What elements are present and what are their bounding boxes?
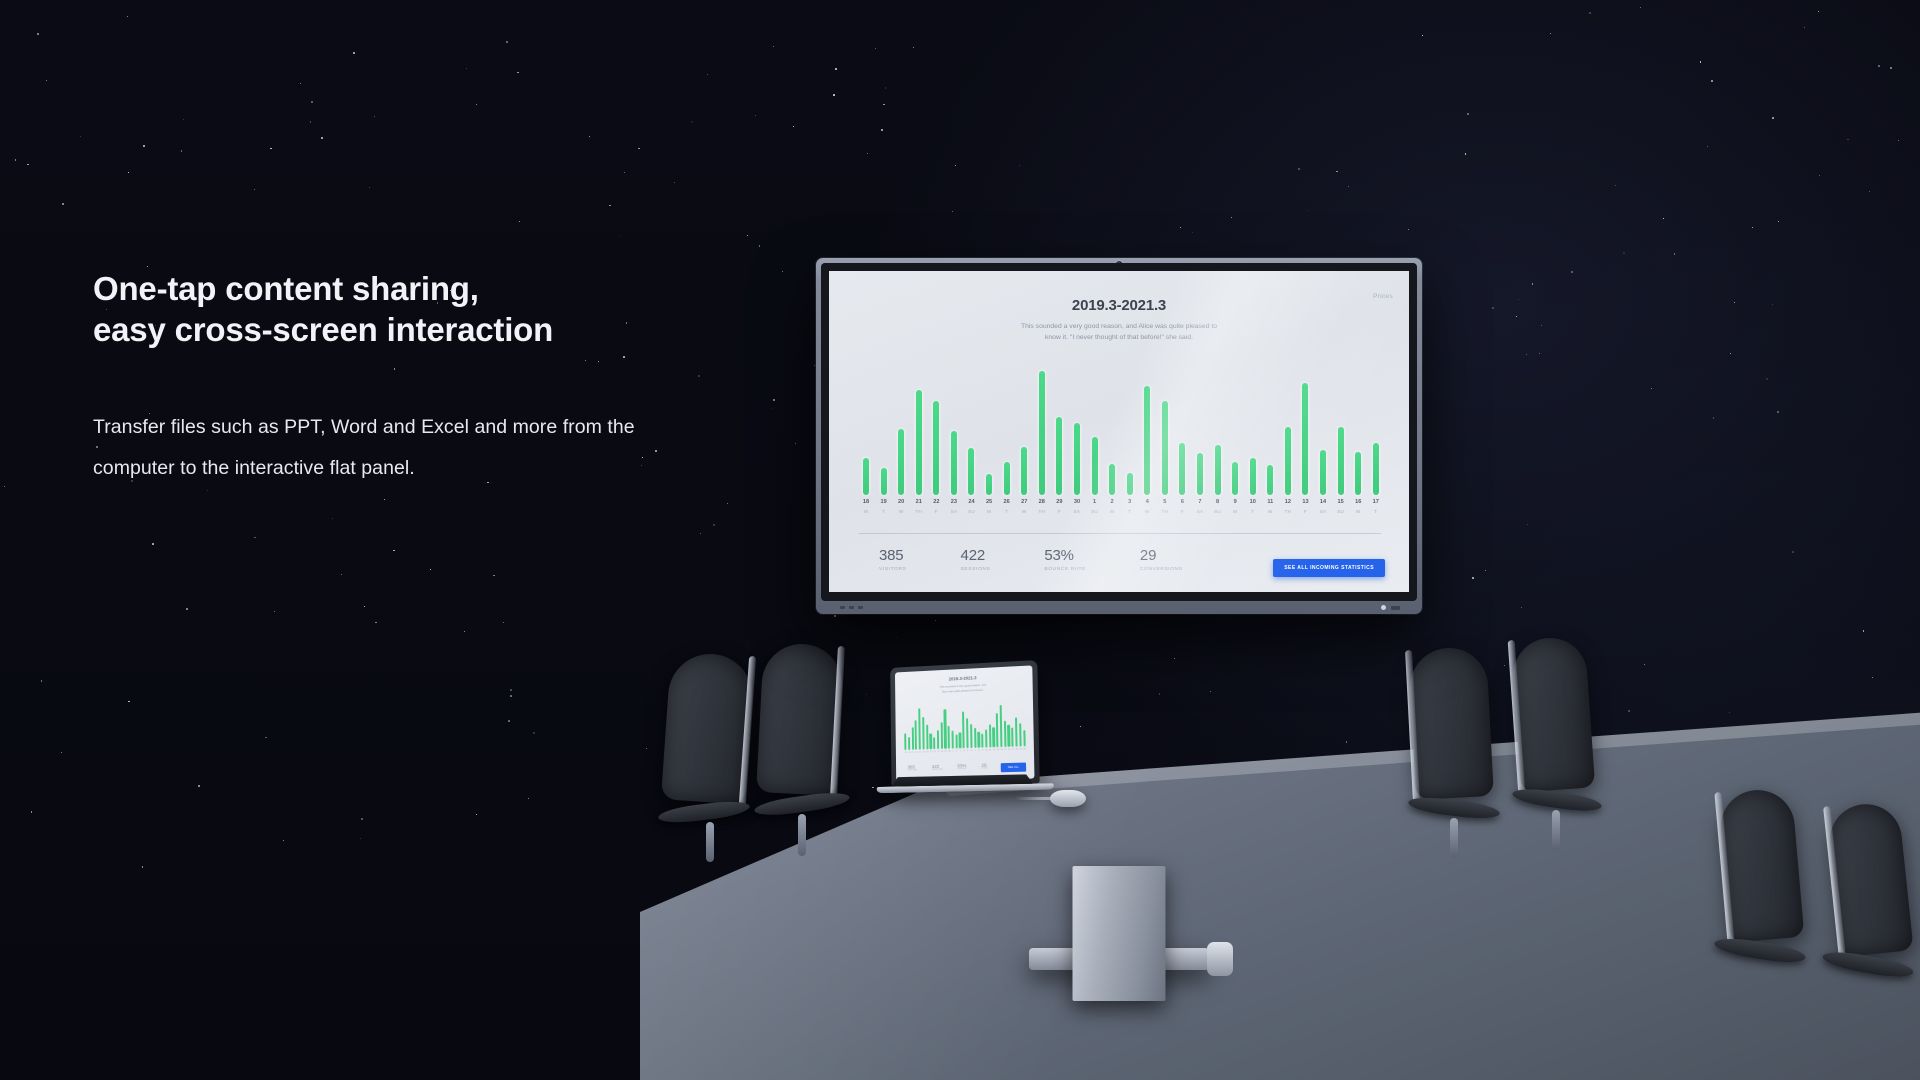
axis-tick: 22F [933,499,939,525]
axis-tick: 11W [1267,499,1273,525]
axis-day-label: 27 [1021,499,1027,505]
axis-tick: 19T [881,499,887,525]
laptop-axis-tick: 10 [985,750,987,758]
bar [1338,427,1344,495]
laptop-kpi-item: 53%BOUNCE [957,763,966,770]
laptop-bar [1011,728,1014,747]
laptop-axis-tick: 26 [933,751,935,759]
bar [1215,445,1221,495]
laptop-bar-chart [904,702,1026,750]
bar [1267,465,1273,495]
dashboard-title: 2019.3-2021.3 [845,297,1393,314]
axis-weekday-label: T [882,509,885,514]
axis-weekday-label: M [864,509,868,514]
axis-day-label: 10 [1250,499,1256,505]
laptop-bar [981,734,983,748]
axis-tick: 14SA [1320,499,1326,525]
laptop-axis-tick: 21 [915,752,917,760]
mouse[interactable] [1050,790,1086,807]
axis-weekday-label: TH [1162,509,1169,514]
mouse-cable [1015,797,1055,800]
laptop-bar [966,718,969,748]
axis-tick: 4W [1144,499,1150,525]
axis-day-label: 23 [951,499,957,505]
axis-day-label: 8 [1216,499,1219,505]
axis-day-label: 5 [1163,499,1166,505]
bar-column[interactable] [1197,367,1203,495]
panel-indicators [1381,605,1400,610]
axis-tick: 20W [898,499,904,525]
bar-column[interactable] [1127,367,1133,495]
kpi-value: 422 [961,547,991,564]
laptop-bar [1015,717,1018,747]
axis-weekday-label: T [1251,509,1254,514]
axis-tick: 26T [1004,499,1010,525]
laptop-axis-tick: 12 [993,749,995,757]
kpi-divider [859,533,1381,534]
laptop-bar [926,725,928,750]
laptop-axis-tick: 20 [1023,748,1025,756]
axis-tick: 10T [1250,499,1256,525]
bar [1109,464,1115,495]
marketing-copy-block: One-tap content sharing, easy cross-scre… [93,268,833,489]
laptop-bar [1023,730,1026,746]
display-screen[interactable]: Prices 2019.3-2021.3 This sounded a very… [829,271,1409,592]
axis-weekday-label: T [1374,509,1377,514]
kpi-item: 29CONVERSIONS [1140,547,1183,572]
bar-column[interactable] [1267,367,1273,495]
laptop-axis-tick: 15 [1004,749,1006,757]
axis-day-label: 19 [880,499,886,505]
laptop-keyboard[interactable] [891,774,1033,786]
bar [1056,417,1062,495]
axis-weekday-label: SA [1197,509,1204,514]
laptop-see-all-button[interactable]: SEE ALL [1001,763,1026,773]
laptop-axis-tick: 4 [963,750,965,758]
laptop-bar [1007,725,1010,747]
bar-chart[interactable] [863,367,1379,495]
laptop: 2019.3-2021.3 This sounded a very good r… [887,661,1054,796]
dashboard: Prices 2019.3-2021.3 This sounded a very… [829,271,1409,592]
axis-tick: 3T [1127,499,1133,525]
axis-tick: 18M [863,499,869,525]
laptop-axis-tick: 22 [919,752,921,760]
bar-column[interactable] [1074,367,1080,495]
axis-day-label: 20 [898,499,904,505]
axis-weekday-label: TH [1039,509,1046,514]
laptop-kpi-label: VISITORS [908,769,918,771]
axis-tick: 2M [1109,499,1115,525]
laptop-kpi-item: 29CONV [981,763,987,770]
laptop-axis-tick: 11 [989,749,991,757]
bar-column[interactable] [863,367,869,495]
laptop-kpi-label: BOUNCE [957,768,966,770]
laptop-axis-tick: 27 [937,751,939,759]
bar-column[interactable] [881,367,887,495]
axis-weekday-label: SA [951,509,958,514]
axis-tick: 28TH [1039,499,1045,525]
prices-label[interactable]: Prices [1373,293,1393,300]
laptop-chart-axis: 1819202122232425262728293012345678910111… [904,748,1025,760]
laptop-axis-tick: 23 [923,751,925,759]
axis-weekday-label: F [1181,509,1184,514]
axis-weekday-label: SU [1214,509,1221,514]
axis-tick: 7SA [1197,499,1203,525]
axis-day-label: 3 [1128,499,1131,505]
laptop-bar [992,727,995,747]
laptop-axis-tick: 9 [982,750,984,758]
axis-day-label: 28 [1039,499,1045,505]
axis-weekday-label: M [1356,509,1360,514]
laptop-bar [922,717,925,749]
kpi-value: 53% [1044,547,1086,564]
axis-day-label: 15 [1338,499,1344,505]
bar-column[interactable] [951,367,957,495]
laptop-bar [985,730,987,748]
axis-weekday-label: SU [968,509,975,514]
axis-weekday-label: T [1128,509,1131,514]
bar-column[interactable] [1179,367,1185,495]
bar [898,429,904,495]
bar-column[interactable] [1215,367,1221,495]
bar-column[interactable] [1250,367,1256,495]
bar-column[interactable] [1355,367,1361,495]
laptop-axis-tick: 19 [1019,748,1021,756]
axis-day-label: 29 [1056,499,1062,505]
laptop-kpi-row: 385VISITORS422SESSIONS53%BOUNCE29CONV [907,763,987,772]
bar-column[interactable] [968,367,974,495]
axis-weekday-label: W [1145,509,1150,514]
bar-column[interactable] [1285,367,1291,495]
laptop-bar [962,712,965,749]
laptop-bar [930,734,932,750]
laptop-axis-tick: 1 [952,751,954,759]
axis-day-label: 12 [1285,499,1291,505]
axis-tick: 21TH [916,499,922,525]
bar [1127,473,1133,495]
interactive-flat-panel: Prices 2019.3-2021.3 This sounded a very… [816,258,1422,614]
laptop-bar [952,731,954,749]
laptop-kpi-item: 385VISITORS [907,764,917,771]
laptop-axis-tick: 20 [912,752,914,760]
laptop-axis-tick: 28 [941,751,943,759]
bar [1355,452,1361,495]
bar-column[interactable] [1162,367,1168,495]
bar [968,448,974,495]
bar [1320,450,1326,495]
laptop-bar [1019,723,1022,746]
laptop-axis-tick: 2 [955,750,957,758]
kpi-item: 422SESSIONS [961,547,991,572]
laptop-axis-tick: 7 [974,750,976,758]
bar [1179,443,1185,495]
axis-day-label: 18 [863,499,869,505]
axis-tick: 6F [1179,499,1185,525]
laptop-kpi-item: 422SESSIONS [932,764,943,771]
bar [1302,383,1308,495]
axis-tick: 5TH [1162,499,1168,525]
axis-day-label: 13 [1302,499,1308,505]
bar [1232,462,1238,495]
bar [881,468,887,495]
axis-weekday-label: M [987,509,991,514]
axis-day-label: 11 [1267,499,1273,505]
axis-tick: 24SU [968,499,974,525]
laptop-bar [933,738,935,749]
bar [1004,462,1010,495]
bar [1373,443,1379,495]
panel-control-buttons[interactable] [840,606,863,609]
laptop-bar [940,722,943,749]
stand-knob [1207,942,1233,976]
bar [1074,423,1080,495]
axis-day-label: 16 [1355,499,1361,505]
axis-tick: 1SU [1092,499,1098,525]
bar-column[interactable] [986,367,992,495]
bar-column[interactable] [1109,367,1115,495]
axis-tick: 8SU [1215,499,1221,525]
laptop-lid: 2019.3-2021.3 This sounded a very good r… [890,660,1040,787]
page-title: One-tap content sharing, easy cross-scre… [93,268,833,350]
laptop-bar [915,720,917,750]
laptop-bar [904,734,906,751]
bar-column[interactable] [898,367,904,495]
panel-button-2[interactable] [849,606,854,609]
laptop-bar [989,724,992,747]
axis-tick: 30SA [1074,499,1080,525]
kpi-item: 53%BOUNCE RATE [1044,547,1086,572]
laptop-axis-tick: 30 [948,751,950,759]
laptop-kpi-label: CONV [981,768,987,770]
bar [1250,458,1256,495]
axis-day-label: 1 [1093,499,1096,505]
laptop-axis-tick: 18 [904,752,906,760]
axis-day-label: 26 [1004,499,1010,505]
kpi-label: SESSIONS [961,567,991,572]
bar-column[interactable] [916,367,922,495]
laptop-bar [1004,721,1007,747]
laptop-bar [911,727,913,750]
axis-tick: 15SU [1338,499,1344,525]
axis-day-label: 30 [1074,499,1080,505]
axis-day-label: 25 [986,499,992,505]
axis-day-label: 9 [1234,499,1237,505]
bar-column[interactable] [1302,367,1308,495]
axis-weekday-label: SU [1091,509,1098,514]
bar [1285,427,1291,495]
laptop-axis-tick: 3 [959,750,961,758]
kpi-label: VISITORS [879,567,907,572]
axis-day-label: 2 [1111,499,1114,505]
laptop-axis-tick: 6 [970,750,972,758]
bar-column[interactable] [1232,367,1238,495]
axis-day-label: 21 [916,499,922,505]
axis-tick: 25M [986,499,992,525]
laptop-bar [959,733,961,749]
axis-tick: 12TH [1285,499,1291,525]
bar-column[interactable] [1320,367,1326,495]
axis-tick: 13F [1302,499,1308,525]
panel-button-3[interactable] [858,606,863,609]
laptop-axis-tick: 25 [930,751,932,759]
sensor-icon [1391,606,1400,610]
laptop-bar [1000,705,1003,747]
laptop-bar [955,735,957,749]
laptop-bar [908,738,910,750]
axis-weekday-label: W [1022,509,1027,514]
bar-column[interactable] [1039,367,1045,495]
bar [1092,437,1098,495]
bar-column[interactable] [1056,367,1062,495]
axis-weekday-label: W [899,509,904,514]
axis-weekday-label: TH [915,509,922,514]
bar-column[interactable] [933,367,939,495]
display-bezel: Prices 2019.3-2021.3 This sounded a very… [816,258,1422,614]
laptop-bar [944,709,947,748]
bar [986,474,992,495]
laptop-axis-tick: 14 [1000,749,1002,757]
axis-weekday-label: F [1058,509,1061,514]
bar [1039,371,1045,495]
bar-column[interactable] [1092,367,1098,495]
axis-day-label: 7 [1198,499,1201,505]
bar [863,458,869,495]
bar-column[interactable] [1144,367,1150,495]
stand-plate [1073,866,1166,1001]
bar [1144,386,1150,495]
dashboard-subtitle: This sounded a very good reason, and Ali… [845,321,1393,343]
axis-day-label: 14 [1320,499,1326,505]
page-subtitle: Transfer files such as PPT, Word and Exc… [93,407,833,489]
laptop-bar [918,708,921,749]
laptop-axis-tick: 16 [1008,749,1010,757]
laptop-axis-tick: 5 [967,750,969,758]
laptop-axis-tick: 13 [997,749,999,757]
axis-weekday-label: SU [1337,509,1344,514]
axis-tick: 29F [1056,499,1062,525]
axis-weekday-label: TH [1285,509,1292,514]
laptop-bar [948,726,950,749]
axis-tick: 27W [1021,499,1027,525]
axis-tick: 23SA [951,499,957,525]
laptop-axis-tick: 29 [944,751,946,759]
bar [916,390,922,495]
axis-tick: 16M [1355,499,1361,525]
kpi-label: CONVERSIONS [1140,567,1183,572]
kpi-label: BOUNCE RATE [1044,567,1086,572]
axis-tick: 9M [1232,499,1238,525]
chart-x-axis: 18M19T20W21TH22F23SA24SU25M26T27W28TH29F… [863,499,1379,525]
kpi-item: 385VISITORS [879,547,907,572]
kpi-value: 29 [1140,547,1183,564]
see-all-statistics-button[interactable]: SEE ALL INCOMING STATISTICS [1273,559,1385,577]
laptop-screen[interactable]: 2019.3-2021.3 This sounded a very good r… [895,665,1035,781]
laptop-axis-tick: 8 [978,750,980,758]
laptop-bar [996,713,999,747]
axis-day-label: 17 [1373,499,1379,505]
bar [1197,453,1203,495]
laptop-axis-tick: 18 [1016,749,1018,757]
axis-weekday-label: F [1304,509,1307,514]
power-led-icon [1381,605,1386,610]
laptop-axis-tick: 17 [1012,749,1014,757]
laptop-bar [937,730,939,749]
axis-day-label: 6 [1181,499,1184,505]
bar-column[interactable] [1004,367,1010,495]
laptop-bar [970,724,973,748]
axis-weekday-label: T [1005,509,1008,514]
laptop-base [876,783,1055,793]
axis-day-label: 24 [968,499,974,505]
laptop-bar [978,732,980,748]
axis-day-label: 4 [1146,499,1149,505]
bar [1162,401,1168,495]
panel-button-1[interactable] [840,606,845,609]
bar-column[interactable] [1338,367,1344,495]
kpi-value: 385 [879,547,907,564]
axis-weekday-label: SA [1320,509,1327,514]
laptop-kpi-label: SESSIONS [932,769,943,771]
bar-column[interactable] [1021,367,1027,495]
laptop-bar [974,728,976,748]
axis-weekday-label: SA [1074,509,1081,514]
axis-weekday-label: M [1110,509,1114,514]
axis-day-label: 22 [933,499,939,505]
bar-column[interactable] [1373,367,1379,495]
laptop-axis-tick: 19 [908,752,910,760]
bar [933,401,939,495]
axis-tick: 17T [1373,499,1379,525]
axis-weekday-label: W [1268,509,1273,514]
axis-weekday-label: M [1233,509,1237,514]
laptop-axis-tick: 24 [926,751,928,759]
bar [1021,447,1027,495]
axis-weekday-label: F [935,509,938,514]
bar [951,431,957,495]
